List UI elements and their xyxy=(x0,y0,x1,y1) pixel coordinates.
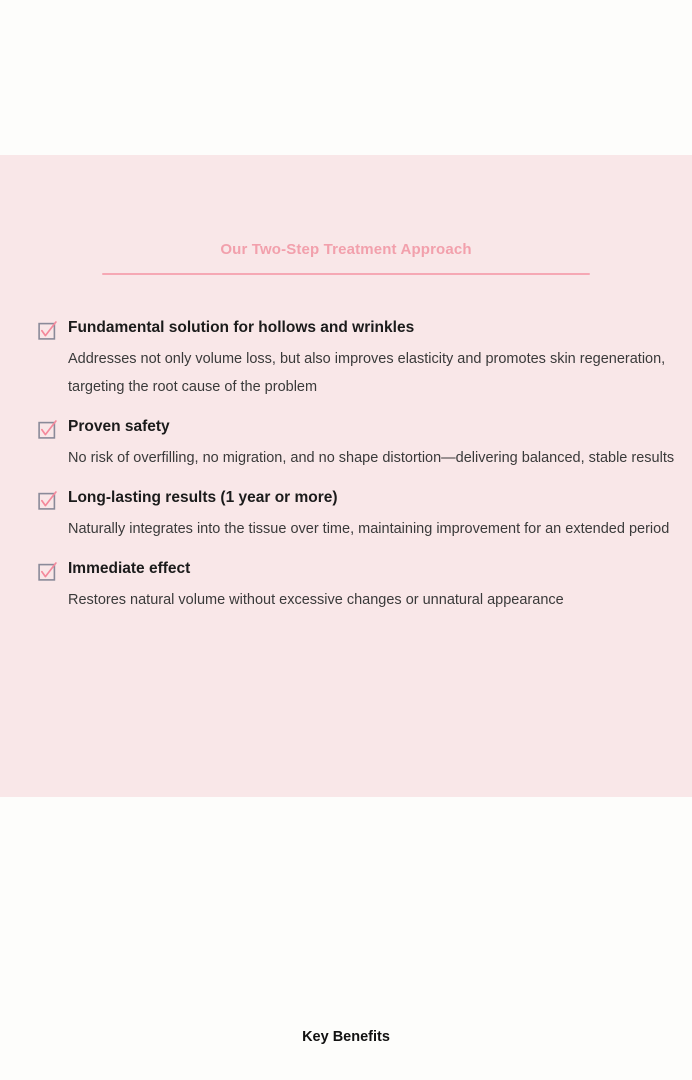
list-item-heading: Proven safety xyxy=(68,417,678,437)
checked-checkbox-icon xyxy=(38,491,57,510)
list-item-heading: Fundamental solution for hollows and wri… xyxy=(68,318,678,338)
list-item-body: No risk of overfilling, no migration, an… xyxy=(68,444,678,472)
checked-checkbox-icon xyxy=(38,420,57,439)
list-item-heading: Immediate effect xyxy=(68,559,678,579)
benefits-list: Fundamental solution for hollows and wri… xyxy=(0,318,692,614)
list-item-heading: Long-lasting results (1 year or more) xyxy=(68,488,678,508)
title-divider xyxy=(102,273,590,275)
list-item: Proven safety No risk of overfilling, no… xyxy=(0,417,692,472)
treatment-approach-panel: Our Two-Step Treatment Approach Fundamen… xyxy=(0,155,692,797)
page-title: Our Two-Step Treatment Approach xyxy=(0,241,692,258)
list-item-body: Naturally integrates into the tissue ove… xyxy=(68,515,678,543)
list-item-body: Addresses not only volume loss, but also… xyxy=(68,345,678,401)
checked-checkbox-icon xyxy=(38,562,57,581)
list-item: Fundamental solution for hollows and wri… xyxy=(0,318,692,401)
list-item-body: Restores natural volume without excessiv… xyxy=(68,586,678,614)
list-item: Immediate effect Restores natural volume… xyxy=(0,559,692,614)
checked-checkbox-icon xyxy=(38,321,57,340)
list-item: Long-lasting results (1 year or more) Na… xyxy=(0,488,692,543)
footer-caption: Key Benefits xyxy=(0,1029,692,1045)
